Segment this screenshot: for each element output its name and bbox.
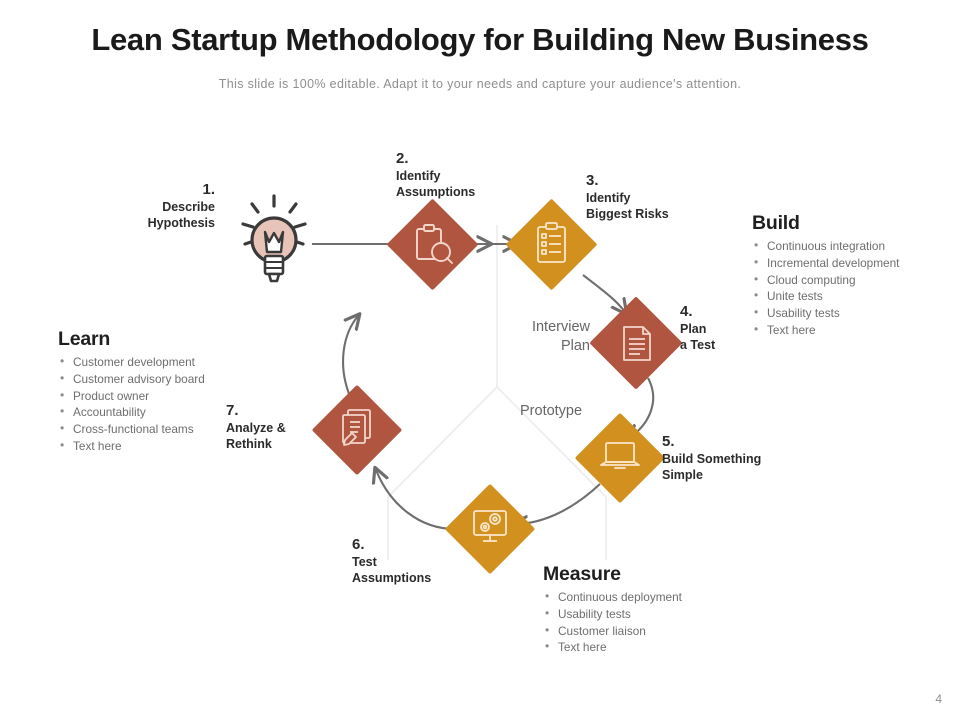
step-3-label: 3. Identify Biggest Risks — [586, 173, 726, 223]
step-3-title: Identify Biggest Risks — [586, 190, 726, 223]
slide-root: Lean Startup Methodology for Building Ne… — [0, 0, 960, 720]
block-build-heading: Build — [752, 212, 942, 235]
step-2-diamond[interactable] — [387, 199, 479, 291]
step-6-number: 6. — [352, 537, 482, 554]
list-item: Text here — [752, 322, 942, 339]
list-item: Continuous integration — [752, 238, 942, 255]
step-5-diamond[interactable] — [575, 413, 666, 504]
step-3-number: 3. — [586, 173, 726, 190]
block-learn-heading: Learn — [58, 328, 268, 351]
list-item: Customer advisory board — [58, 371, 268, 388]
arrow-7-to-1 — [343, 316, 358, 394]
arrow-5-to-6 — [515, 484, 600, 524]
step-6-label: 6. Test Assumptions — [352, 537, 482, 587]
block-build: Build Continuous integration Incremental… — [752, 212, 942, 339]
list-item: Text here — [543, 639, 753, 656]
list-item: Incremental development — [752, 255, 942, 272]
block-measure-heading: Measure — [543, 563, 753, 586]
step-5-label: 5. Build Something Simple — [662, 434, 822, 484]
list-item: Usability tests — [752, 305, 942, 322]
arrow-3-to-4 — [583, 275, 625, 312]
cycle-arrows — [312, 244, 653, 529]
block-measure-list: Continuous deployment Usability tests Cu… — [543, 589, 753, 656]
step-2-title: Identify Assumptions — [396, 168, 526, 201]
step-5-title: Build Something Simple — [662, 451, 822, 484]
block-learn-list: Customer development Customer advisory b… — [58, 354, 268, 455]
step-5-number: 5. — [662, 434, 822, 451]
center-label-interview-plan: Interview Plan — [500, 318, 590, 355]
step-6-title: Test Assumptions — [352, 554, 482, 587]
list-item: Text here — [58, 438, 268, 455]
list-item: Customer liaison — [543, 623, 753, 640]
list-item: Unite tests — [752, 288, 942, 305]
block-build-list: Continuous integration Incremental devel… — [752, 238, 942, 339]
step-2-number: 2. — [396, 151, 526, 168]
page-number: 4 — [935, 692, 942, 706]
list-item: Cross-functional teams — [58, 421, 268, 438]
step-1-label: 1. Describe Hypothesis — [120, 182, 215, 232]
center-label-prototype: Prototype — [520, 402, 610, 421]
step-1-title: Describe Hypothesis — [120, 199, 215, 232]
list-item: Continuous deployment — [543, 589, 753, 606]
step-1-number: 1. — [120, 182, 215, 199]
list-item: Customer development — [58, 354, 268, 371]
list-item: Accountability — [58, 404, 268, 421]
block-measure: Measure Continuous deployment Usability … — [543, 563, 753, 656]
list-item: Product owner — [58, 388, 268, 405]
step-4-diamond[interactable] — [589, 296, 682, 389]
step-2-label: 2. Identify Assumptions — [396, 151, 526, 201]
list-item: Cloud computing — [752, 272, 942, 289]
block-learn: Learn Customer development Customer advi… — [58, 328, 268, 455]
step-1-lightbulb-icon[interactable] — [243, 196, 305, 281]
list-item: Usability tests — [543, 606, 753, 623]
